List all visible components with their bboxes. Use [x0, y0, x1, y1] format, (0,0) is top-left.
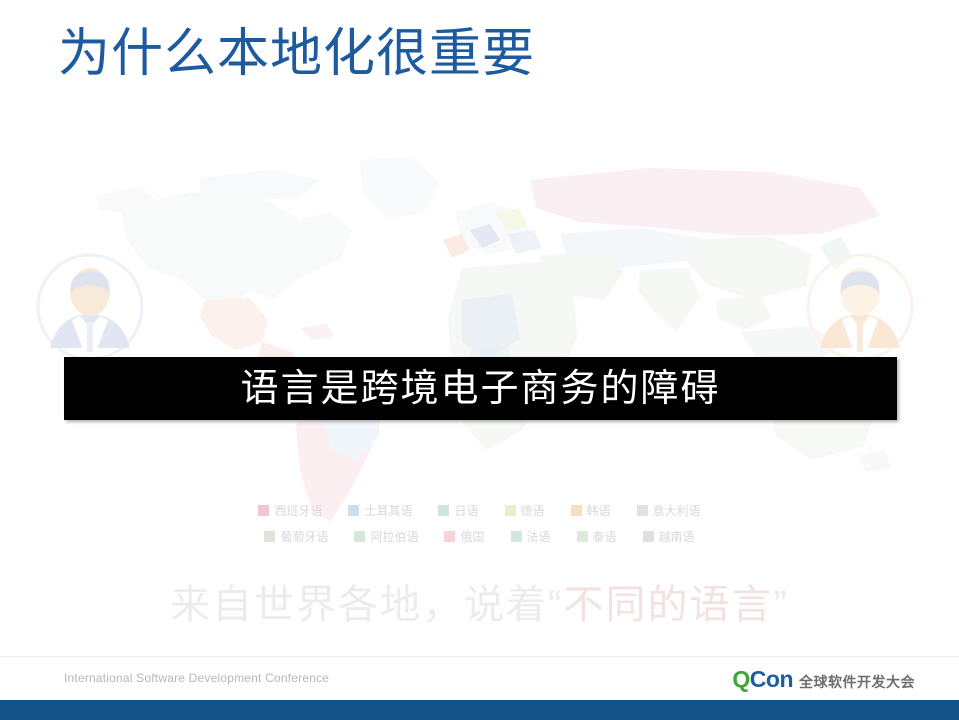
legend-item: 泰语: [577, 528, 617, 545]
legend-swatch: [637, 505, 648, 516]
legend-swatch: [354, 531, 365, 542]
slide-caption: 来自世界各地，说着“不同的语言”: [0, 578, 959, 632]
footer-bar: [0, 700, 959, 720]
legend-item: 越南语: [643, 528, 695, 545]
legend-item: 阿拉伯语: [354, 528, 418, 545]
legend-label: 葡萄牙语: [280, 528, 328, 545]
page-title: 为什么本地化很重要: [58, 22, 535, 86]
legend-label: 阿拉伯语: [370, 528, 418, 545]
legend-item: 德语: [505, 502, 545, 519]
qcon-logo: QCon 全球软件开发大会: [732, 666, 915, 693]
qcon-logo-q: Q: [732, 666, 749, 693]
legend-label: 泰语: [593, 528, 617, 545]
qcon-logo-con: Con: [750, 666, 793, 693]
legend-item: 俄国: [444, 528, 484, 545]
legend-item: 韩语: [571, 502, 611, 519]
legend-item: 西班牙语: [258, 502, 322, 519]
caption-highlight: 不同的语言: [564, 583, 774, 627]
legend-item: 土耳其语: [348, 502, 412, 519]
legend-label: 德语: [521, 502, 545, 519]
map-legend: 西班牙语 土耳其语 日语 德语 韩语 意大利语: [0, 497, 959, 549]
legend-swatch: [258, 505, 269, 516]
legend-item: 日语: [438, 502, 478, 519]
caption-quote-open: “: [548, 583, 563, 627]
legend-swatch: [511, 531, 522, 542]
presentation-slide: 为什么本地化很重要: [0, 0, 959, 720]
footer-divider: [0, 656, 959, 657]
legend-swatch: [505, 505, 516, 516]
legend-label: 土耳其语: [364, 502, 412, 519]
banner-text: 语言是跨境电子商务的障碍: [240, 367, 720, 411]
legend-label: 日语: [454, 502, 478, 519]
legend-label: 法语: [527, 528, 551, 545]
emphasis-banner: 语言是跨境电子商务的障碍: [64, 357, 897, 420]
avatar: [30, 252, 150, 362]
legend-label: 西班牙语: [274, 502, 322, 519]
legend-row-1: 西班牙语 土耳其语 日语 德语 韩语 意大利语: [0, 497, 959, 523]
legend-label: 俄国: [460, 528, 484, 545]
legend-row-2: 葡萄牙语 阿拉伯语 俄国 法语 泰语 越南语: [0, 523, 959, 549]
legend-swatch: [643, 531, 654, 542]
legend-swatch: [571, 505, 582, 516]
legend-label: 意大利语: [653, 502, 701, 519]
legend-label: 越南语: [659, 528, 695, 545]
caption-part-1: 来自世界各地，说着: [170, 583, 548, 627]
legend-swatch: [438, 505, 449, 516]
legend-label: 韩语: [587, 502, 611, 519]
avatar: [800, 252, 920, 362]
legend-swatch: [264, 531, 275, 542]
legend-item: 法语: [511, 528, 551, 545]
legend-swatch: [577, 531, 588, 542]
legend-item: 意大利语: [637, 502, 701, 519]
legend-swatch: [444, 531, 455, 542]
qcon-logo-chinese: 全球软件开发大会: [799, 672, 915, 692]
legend-item: 葡萄牙语: [264, 528, 328, 545]
caption-quote-close: ”: [774, 583, 789, 627]
legend-swatch: [348, 505, 359, 516]
footer-tagline: International Software Development Confe…: [64, 671, 329, 685]
